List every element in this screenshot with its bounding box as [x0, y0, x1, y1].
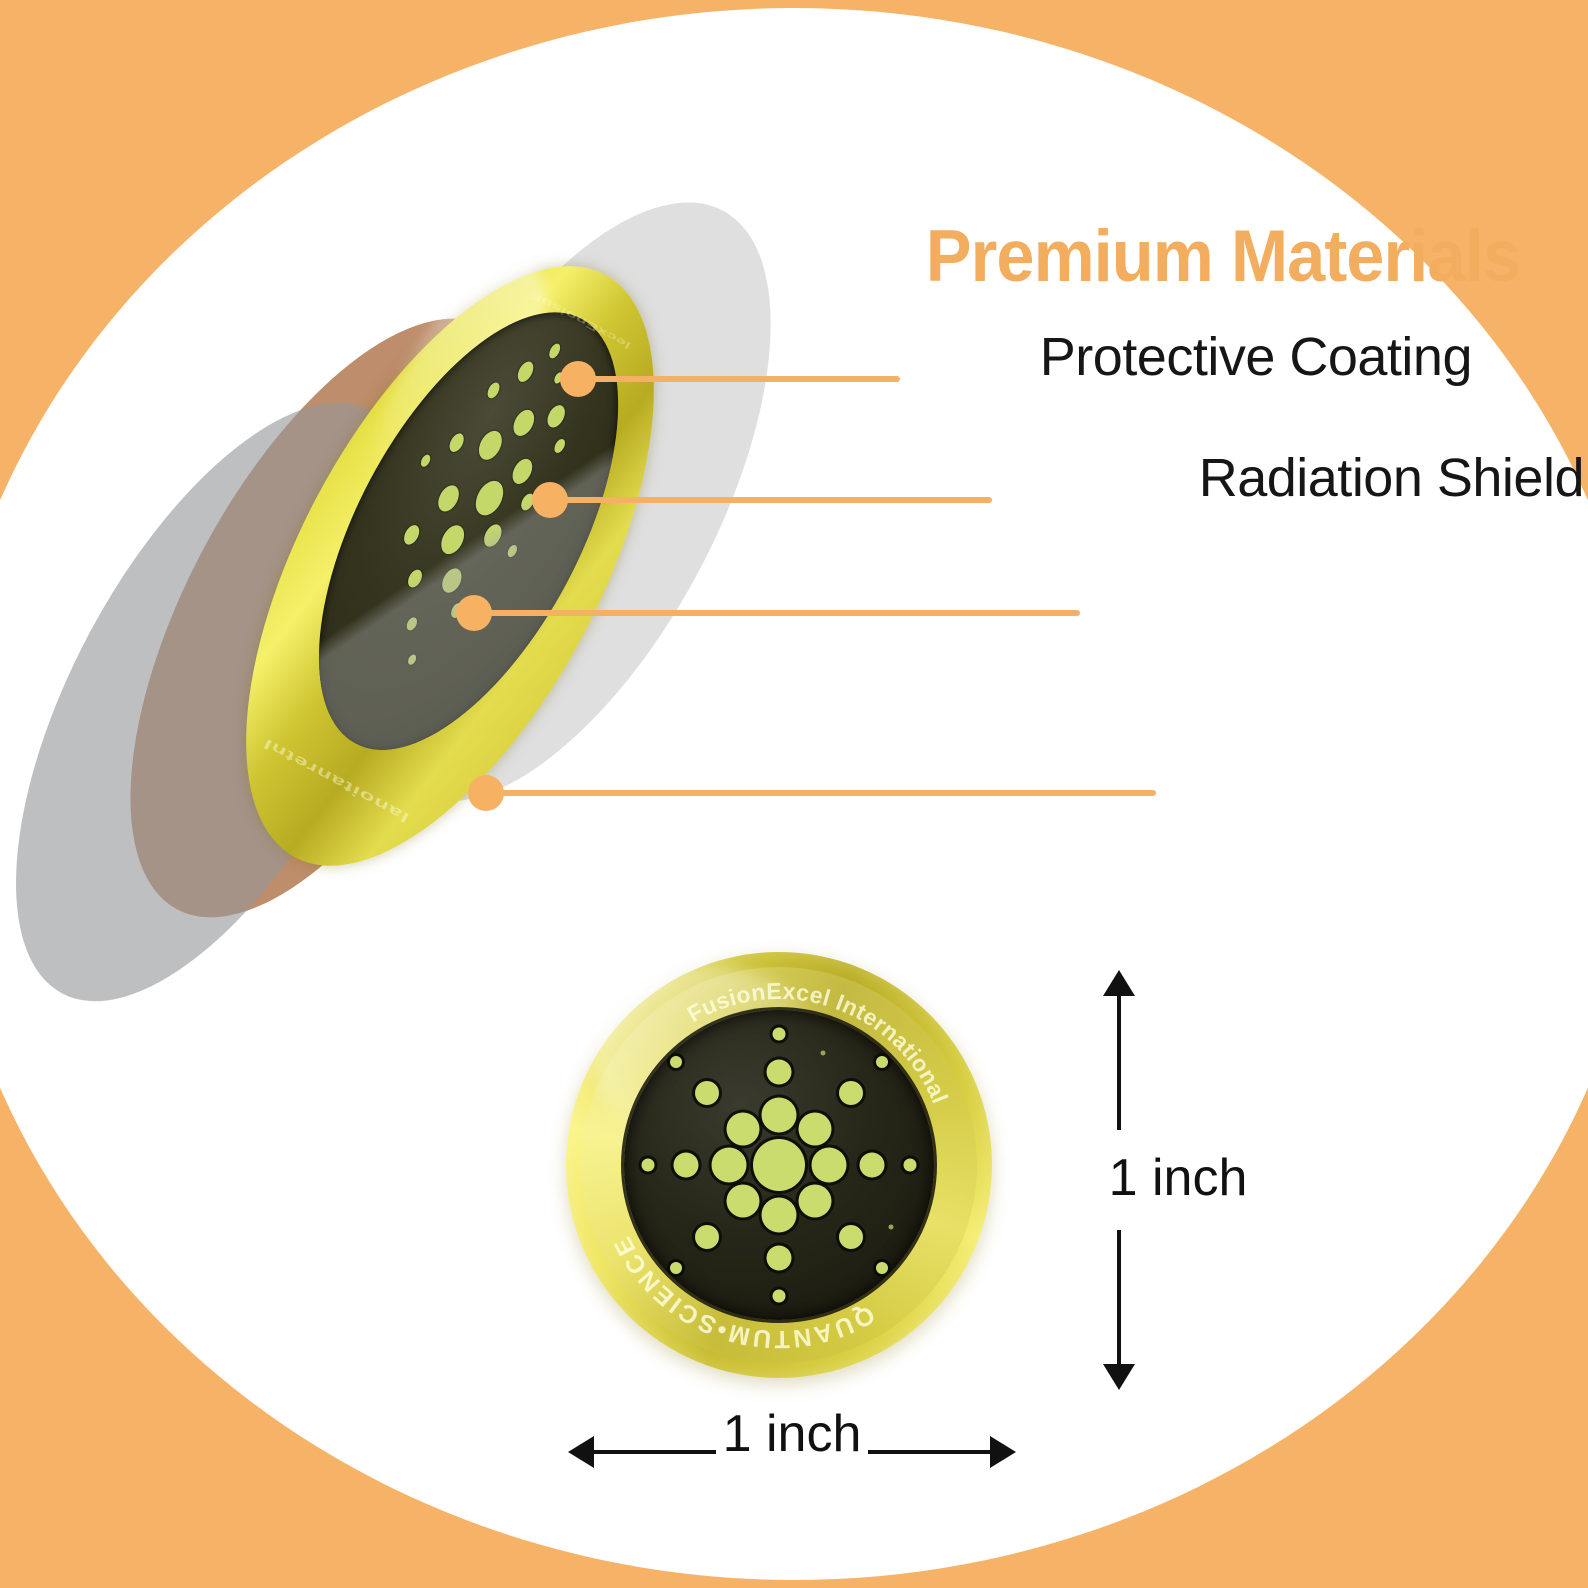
callout-label-3m-sticker: 3M Sticker	[1168, 743, 1588, 801]
product-coin: FusionExcel International QUANTUM•SCIENC…	[566, 952, 992, 1378]
callout-dot-icon	[532, 482, 568, 518]
dimension-vertical: 1 inch	[1098, 970, 1138, 1390]
callout-dot-icon	[468, 775, 504, 811]
callout-dot-icon	[456, 595, 492, 631]
callout-label-radiation-shield: Radiation Shield	[994, 450, 1584, 508]
coin-face	[624, 1010, 935, 1321]
callout-dot-icon	[560, 361, 596, 397]
dimension-horizontal: 1 inch	[568, 1430, 1016, 1474]
dimension-horizontal-label: 1 inch	[568, 1404, 1016, 1464]
dimension-shaft-top	[1117, 990, 1121, 1130]
dimension-vertical-label: 1 inch	[1038, 1148, 1318, 1208]
callout-label-protective-coating: Protective Coating	[912, 329, 1472, 387]
infographic-canvas: lecxEnoisuF lanoitanretnI Premium Materi…	[0, 0, 1588, 1588]
callout-label-negative-ion: Negative Ion Material	[1078, 559, 1588, 675]
callout-line	[486, 790, 1156, 796]
dimension-shaft-bottom	[1117, 1230, 1121, 1370]
page-title: Premium Materials	[740, 220, 1520, 293]
callout-line	[578, 376, 900, 382]
callout-line	[550, 497, 992, 503]
arrow-down-icon	[1103, 1364, 1135, 1390]
callout-line	[474, 610, 1080, 616]
